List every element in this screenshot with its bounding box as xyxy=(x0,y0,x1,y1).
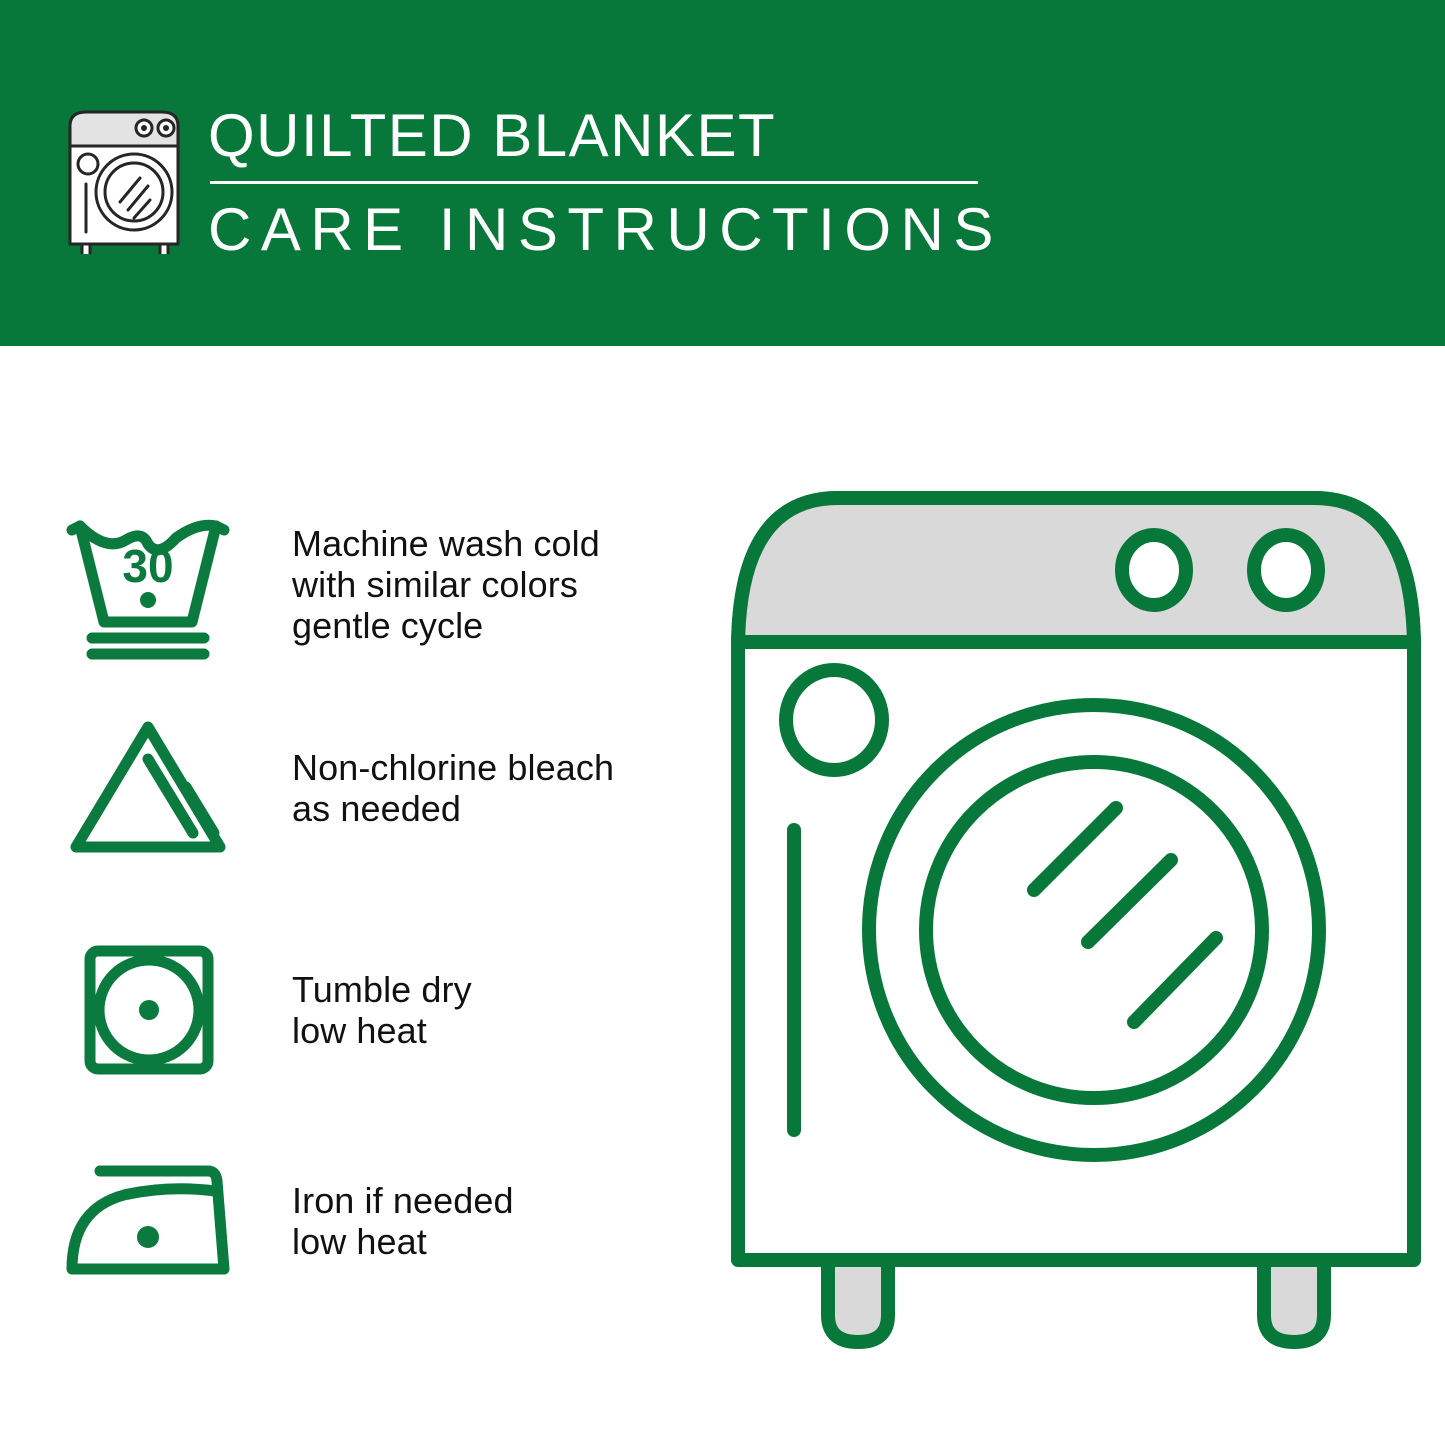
knob-right xyxy=(1254,535,1318,605)
care-line: low heat xyxy=(292,1221,514,1262)
wash-tub-30-icon: 30 xyxy=(58,496,238,672)
front-load-washing-machine-illustration xyxy=(716,470,1436,1360)
care-item-tumble-dry: Tumble dry low heat xyxy=(0,934,700,1086)
care-line: Tumble dry xyxy=(292,969,472,1010)
page-title-subject: CARE INSTRUCTIONS xyxy=(208,194,998,266)
title-block: QUILTED BLANKET CARE INSTRUCTIONS xyxy=(208,100,998,266)
care-line: as needed xyxy=(292,788,614,829)
care-item-text: Non-chlorine bleach as needed xyxy=(292,747,614,829)
care-line: low heat xyxy=(292,1010,472,1051)
leg-right xyxy=(1264,1260,1324,1342)
header-banner: QUILTED BLANKET CARE INSTRUCTIONS xyxy=(0,0,1445,346)
care-line: with similar colors xyxy=(292,564,600,605)
care-line: Non-chlorine bleach xyxy=(292,747,614,788)
knob-left xyxy=(1122,535,1186,605)
care-item-text: Iron if needed low heat xyxy=(292,1180,514,1262)
title-divider xyxy=(210,181,978,184)
care-item-text: Machine wash cold with similar colors ge… xyxy=(292,523,600,646)
care-line: Machine wash cold xyxy=(292,523,600,564)
care-item-text: Tumble dry low heat xyxy=(292,969,472,1051)
care-item-bleach: Non-chlorine bleach as needed xyxy=(0,708,700,868)
care-line: gentle cycle xyxy=(292,605,600,646)
care-item-iron: Iron if needed low heat xyxy=(0,1146,700,1296)
washing-machine-logo-icon xyxy=(62,104,192,254)
wash-temperature-label: 30 xyxy=(122,540,173,592)
leg-left xyxy=(828,1260,888,1342)
care-item-machine-wash: 30 Machine wash cold with similar colors… xyxy=(0,496,700,672)
detergent-indicator xyxy=(786,670,882,770)
care-instructions-page: QUILTED BLANKET CARE INSTRUCTIONS 30 xyxy=(0,0,1445,1445)
non-chlorine-bleach-triangle-icon xyxy=(58,708,238,868)
care-line: Iron if needed xyxy=(292,1180,514,1221)
tumble-dry-low-icon xyxy=(58,934,238,1086)
page-title-product: QUILTED BLANKET xyxy=(208,100,998,172)
iron-low-heat-icon xyxy=(58,1146,238,1296)
care-symbol-list: 30 Machine wash cold with similar colors… xyxy=(0,346,700,1445)
